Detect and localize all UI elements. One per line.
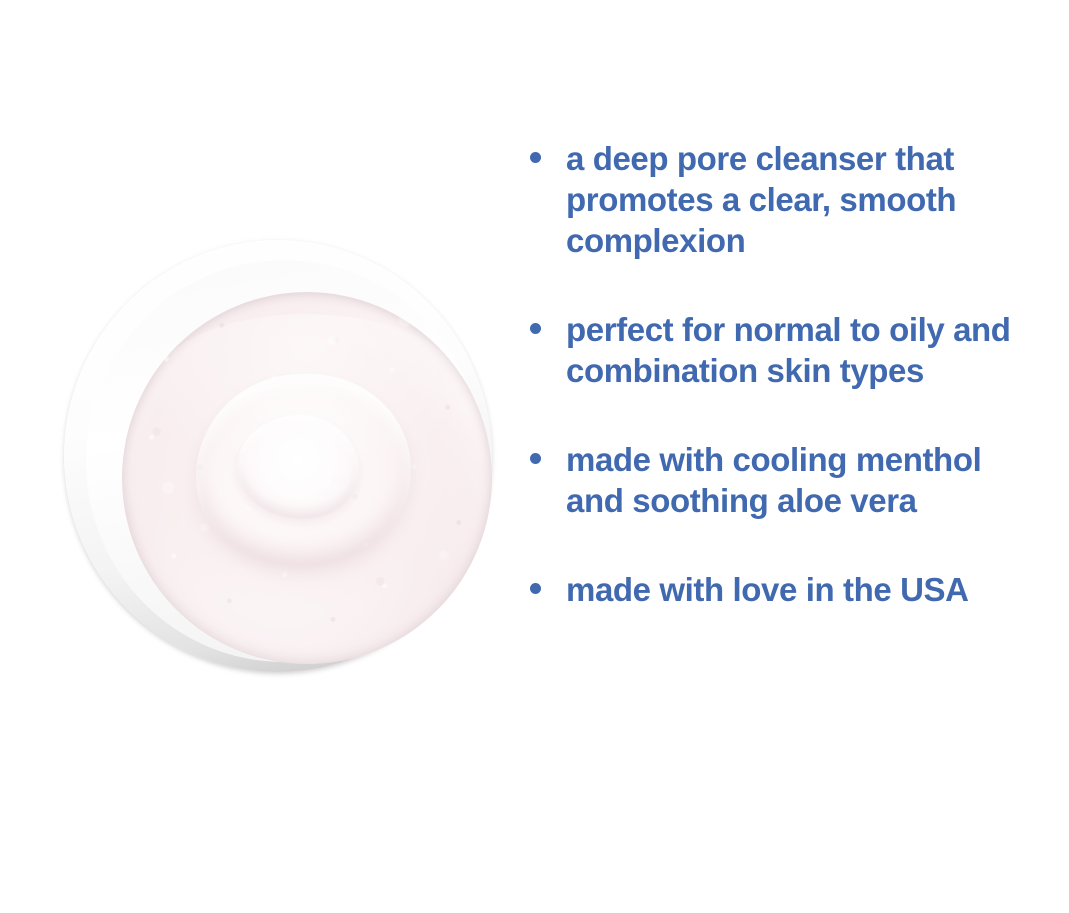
- jar-rim-inner-bevel: [86, 260, 482, 662]
- bullet-dot-icon: [530, 323, 541, 334]
- feature-text: a deep pore cleanser that promotes a cle…: [566, 138, 1069, 261]
- product-feature-graphic: a deep pore cleanser that promotes a cle…: [0, 0, 1069, 913]
- feature-text: made with love in the USA: [566, 569, 1069, 610]
- feature-list-item: a deep pore cleanser that promotes a cle…: [530, 138, 1069, 261]
- feature-bullet-list: a deep pore cleanser that promotes a cle…: [530, 138, 1069, 610]
- feature-text: made with cooling menthol and soothing a…: [566, 439, 1069, 521]
- bullet-dot-icon: [530, 583, 541, 594]
- feature-list-item: made with cooling menthol and soothing a…: [530, 439, 1069, 521]
- jar-rim: [64, 240, 492, 672]
- product-image: [58, 232, 498, 680]
- bullet-dot-icon: [530, 453, 541, 464]
- bullet-dot-icon: [530, 152, 541, 163]
- powder-highlight: [152, 314, 463, 463]
- feature-list-item: made with love in the USA: [530, 569, 1069, 610]
- powder-surface: [122, 292, 492, 664]
- feature-text: perfect for normal to oily and combinati…: [566, 309, 1069, 391]
- feature-list-item: perfect for normal to oily and combinati…: [530, 309, 1069, 391]
